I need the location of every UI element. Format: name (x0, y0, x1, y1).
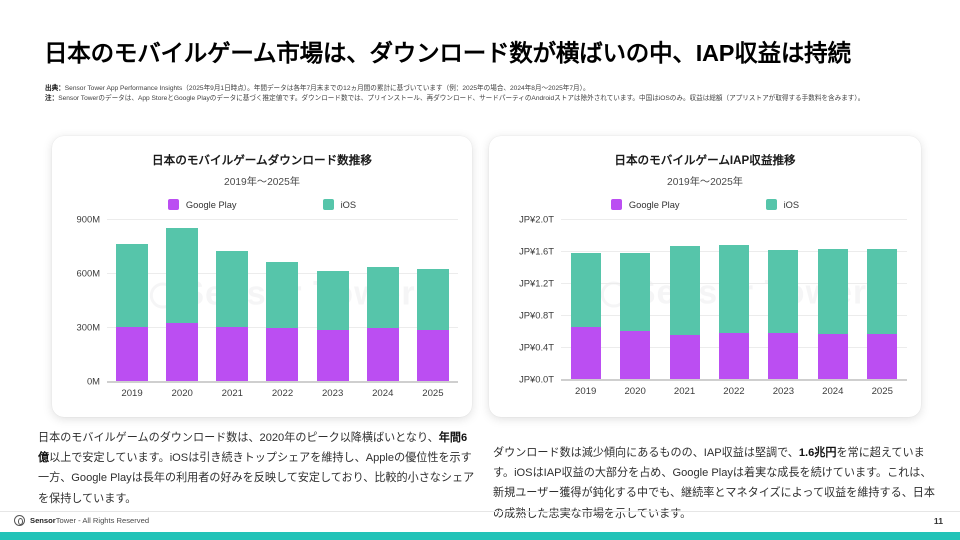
x-axis-tick-label: 2019 (571, 386, 601, 397)
bar-stack[interactable] (266, 219, 298, 381)
bar-segment-google-play[interactable] (719, 333, 749, 379)
x-axis-tick-label: 2025 (417, 388, 449, 399)
x-axis-tick-label: 2019 (116, 388, 148, 399)
y-axis-tick-label: JP¥0.4T (519, 342, 561, 353)
bar-stack[interactable] (367, 219, 399, 381)
bar-segment-google-play[interactable] (417, 330, 449, 381)
bar-stack[interactable] (670, 219, 700, 379)
bar-segment-google-play[interactable] (768, 333, 798, 379)
bar-stack[interactable] (768, 219, 798, 379)
bar-stack[interactable] (867, 219, 897, 379)
x-axis-tick-label: 2021 (216, 388, 248, 399)
bar-segment-ios[interactable] (216, 251, 248, 327)
x-axis-tick-label: 2023 (317, 388, 349, 399)
x-axis-tick-label: 2025 (867, 386, 897, 397)
bar-segment-ios[interactable] (116, 244, 148, 328)
bar-segment-ios[interactable] (818, 249, 848, 334)
slide-root: 日本のモバイルゲーム市場は、ダウンロード数が横ばいの中、IAP収益は持続 出典：… (0, 0, 960, 540)
legend-label-ios: iOS (784, 200, 800, 210)
bar-segment-google-play[interactable] (216, 327, 248, 381)
x-axis-tick-label: 2022 (719, 386, 749, 397)
axis-baseline: 0M (107, 381, 458, 383)
footer-divider (0, 511, 960, 512)
bar-segment-ios[interactable] (266, 262, 298, 328)
y-axis-tick-label: JP¥1.6T (519, 246, 561, 257)
plot-area-downloads: Sensor Tower 0M300M600M900M (107, 219, 458, 381)
chart-title-downloads: 日本のモバイルゲームダウンロード数推移 (52, 152, 472, 168)
bar-stack[interactable] (166, 219, 198, 381)
legend-swatch-ios (766, 199, 777, 210)
legend-swatch-google-play (611, 199, 622, 210)
x-axis-labels-downloads: 2019202020212022202320242025 (107, 388, 458, 399)
x-axis-tick-label: 2020 (620, 386, 650, 397)
bar-segment-google-play[interactable] (266, 328, 298, 381)
y-axis-tick-label: 900M (77, 214, 107, 225)
bar-segment-google-play[interactable] (670, 335, 700, 379)
legend-item-ios[interactable]: iOS (323, 199, 357, 210)
legend-label-google-play: Google Play (186, 200, 237, 210)
bar-segment-google-play[interactable] (818, 334, 848, 379)
y-axis-tick-label: JP¥0.8T (519, 310, 561, 321)
plot-area-iap: Sensor Tower JP¥0.0TJP¥0.4TJP¥0.8TJP¥1.2… (561, 219, 907, 379)
summary-paragraph-downloads: 日本のモバイルゲームのダウンロード数は、2020年のピーク以降横ばいとなり、年間… (38, 428, 478, 509)
legend-swatch-google-play (168, 199, 179, 210)
bar-segment-ios[interactable] (768, 250, 798, 333)
footer-branding: SensorTower - All Rights Reserved (14, 515, 149, 526)
bar-segment-google-play[interactable] (166, 323, 198, 381)
x-axis-labels-iap: 2019202020212022202320242025 (561, 386, 907, 397)
footer-brand-suffix: Tower (56, 516, 76, 525)
source-text: Sensor Tower App Performance Insights（20… (65, 85, 590, 92)
y-axis-tick-label: JP¥0.0T (519, 374, 561, 385)
bar-segment-ios[interactable] (367, 267, 399, 328)
chart-card-downloads: 日本のモバイルゲームダウンロード数推移 2019年〜2025年 Google P… (52, 136, 472, 417)
y-axis-tick-label: JP¥2.0T (519, 214, 561, 225)
bar-stack[interactable] (116, 219, 148, 381)
source-line: 出典：Sensor Tower App Performance Insights… (45, 84, 925, 94)
note-label: 注： (45, 95, 58, 102)
sensor-tower-logo-icon (14, 515, 25, 526)
bar-segment-google-play[interactable] (620, 331, 650, 379)
legend-label-google-play: Google Play (629, 200, 680, 210)
chart-legend-downloads: Google Play iOS (52, 199, 472, 210)
footer-brand: Sensor (30, 516, 56, 525)
note-line: 注：Sensor Towerのデータは、App StoreとGoogle Pla… (45, 94, 925, 104)
source-label: 出典： (45, 85, 65, 92)
chart-subtitle-iap: 2019年〜2025年 (489, 173, 921, 188)
bar-segment-google-play[interactable] (571, 327, 601, 379)
chart-legend-iap: Google Play iOS (489, 199, 921, 210)
y-axis-tick-label: JP¥1.2T (519, 278, 561, 289)
bar-stack[interactable] (818, 219, 848, 379)
note-text: Sensor Towerのデータは、App StoreとGoogle Playの… (58, 95, 864, 102)
bar-group (561, 219, 907, 379)
bar-stack[interactable] (216, 219, 248, 381)
legend-item-google-play[interactable]: Google Play (611, 199, 680, 210)
chart-card-iap-revenue: 日本のモバイルゲームIAP収益推移 2019年〜2025年 Google Pla… (489, 136, 921, 417)
chart-title-iap: 日本のモバイルゲームIAP収益推移 (489, 152, 921, 168)
axis-baseline: JP¥0.0T (561, 379, 907, 381)
bar-segment-ios[interactable] (867, 249, 897, 335)
bar-segment-google-play[interactable] (367, 328, 399, 381)
x-axis-tick-label: 2022 (266, 388, 298, 399)
legend-label-ios: iOS (341, 200, 357, 210)
bar-stack[interactable] (317, 219, 349, 381)
bar-stack[interactable] (620, 219, 650, 379)
bar-segment-ios[interactable] (417, 269, 449, 329)
bar-stack[interactable] (571, 219, 601, 379)
bar-segment-ios[interactable] (719, 245, 749, 334)
para-left-run-0: 日本のモバイルゲームのダウンロード数は、2020年のピーク以降横ばいとなり、 (38, 432, 439, 444)
bar-segment-google-play[interactable] (116, 327, 148, 381)
bar-segment-google-play[interactable] (317, 330, 349, 381)
bar-segment-ios[interactable] (166, 228, 198, 323)
bar-segment-google-play[interactable] (867, 334, 897, 379)
accent-bottom-bar (0, 532, 960, 540)
y-axis-tick-label: 600M (77, 268, 107, 279)
bar-segment-ios[interactable] (670, 246, 700, 335)
y-axis-tick-label: 0M (87, 376, 107, 387)
bar-group (107, 219, 458, 381)
bar-stack[interactable] (719, 219, 749, 379)
x-axis-tick-label: 2024 (367, 388, 399, 399)
para-left-run-2: 以上で安定しています。iOSは引き続きトップシェアを維持し、Appleの優位性を… (38, 452, 474, 504)
bar-stack[interactable] (417, 219, 449, 381)
y-axis-tick-label: 300M (77, 322, 107, 333)
para-right-run-1: 1.6兆円 (799, 447, 837, 459)
page-number: 11 (934, 516, 943, 526)
bar-segment-ios[interactable] (620, 253, 650, 331)
legend-swatch-ios (323, 199, 334, 210)
x-axis-tick-label: 2021 (670, 386, 700, 397)
legend-item-ios[interactable]: iOS (766, 199, 800, 210)
footer-rights: - All Rights Reserved (78, 516, 149, 525)
source-notes: 出典：Sensor Tower App Performance Insights… (45, 84, 925, 105)
page-title: 日本のモバイルゲーム市場は、ダウンロード数が横ばいの中、IAP収益は持続 (44, 34, 924, 68)
x-axis-tick-label: 2023 (768, 386, 798, 397)
bar-segment-ios[interactable] (571, 253, 601, 327)
legend-item-google-play[interactable]: Google Play (168, 199, 237, 210)
x-axis-tick-label: 2024 (818, 386, 848, 397)
chart-subtitle-downloads: 2019年〜2025年 (52, 173, 472, 188)
x-axis-tick-label: 2020 (166, 388, 198, 399)
bar-segment-ios[interactable] (317, 271, 349, 330)
para-right-run-0: ダウンロード数は減少傾向にあるものの、IAP収益は堅調で、 (493, 447, 799, 459)
